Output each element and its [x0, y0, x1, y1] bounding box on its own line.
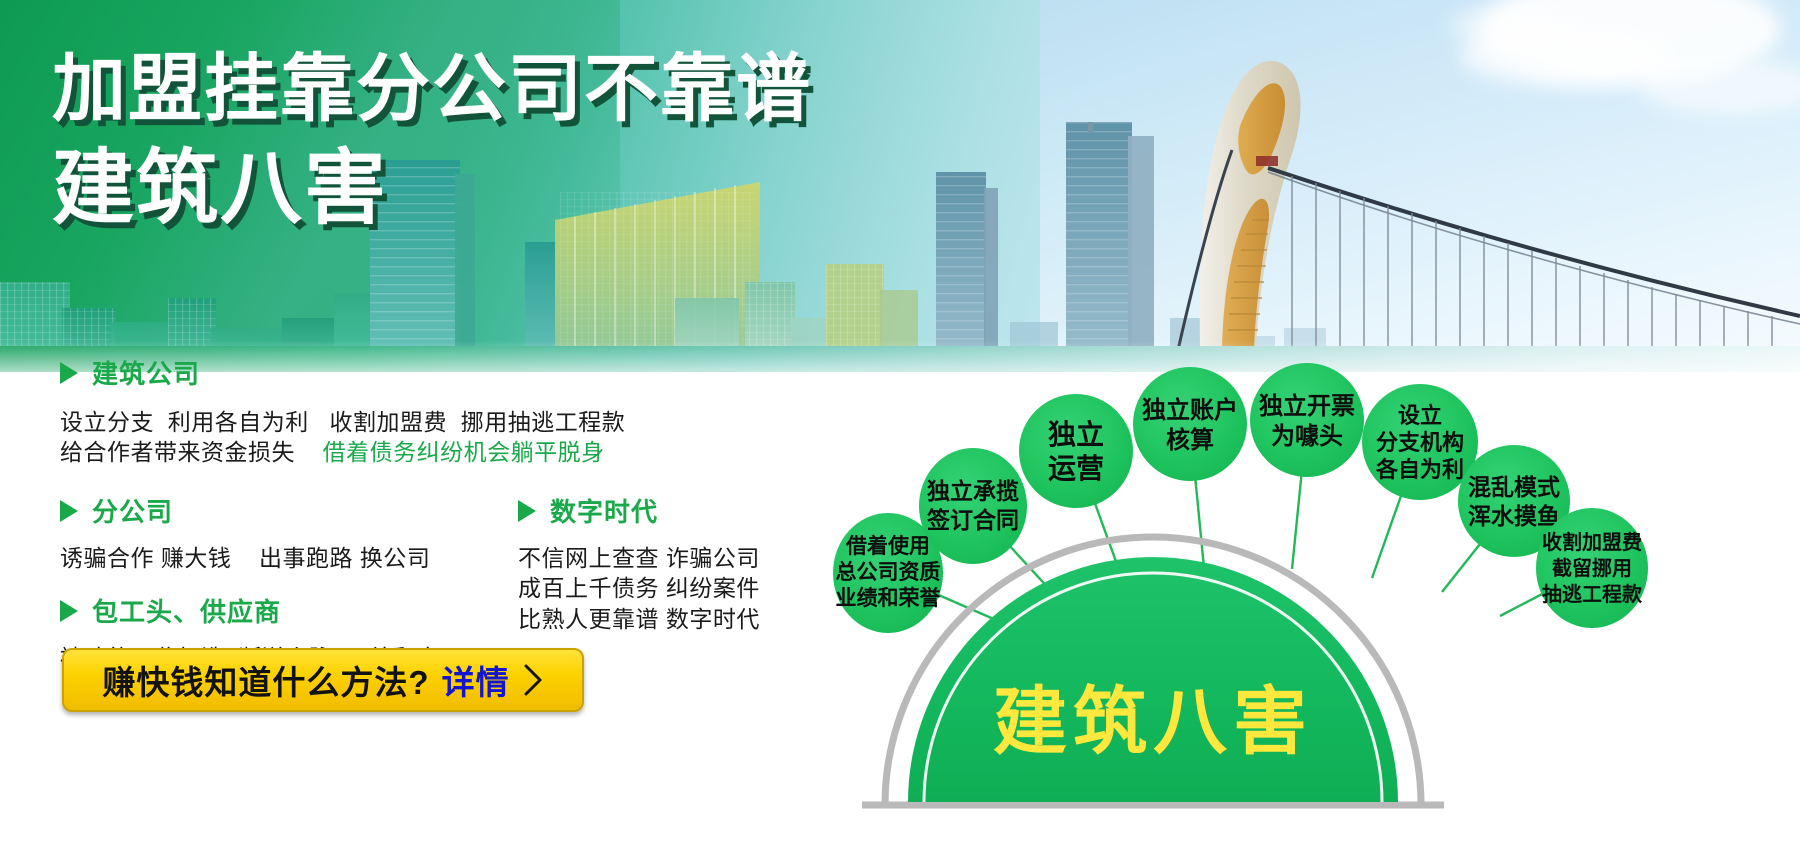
bubble-line: 抽逃工程款 — [1542, 582, 1643, 606]
section-header: 分公司 — [60, 492, 430, 529]
bubble-line: 截留挪用 — [1552, 556, 1632, 580]
section-header: 包工头、供应商 — [60, 592, 440, 629]
triangle-bullet-icon — [60, 600, 78, 622]
section-digital-era: 数字时代 不信网上查查 诈骗公司 成百上千债务 纠纷案件 比熟人更靠谱 数字时代 — [518, 492, 760, 634]
section-header: 数字时代 — [518, 492, 760, 529]
bubble-line: 业绩和荣誉 — [836, 586, 942, 610]
bubble-5[interactable]: 独立开票 为噱头 — [1250, 363, 1364, 477]
bridge-illustration — [1140, 30, 1800, 350]
cta-label: 赚快钱知道什么方法? — [102, 656, 429, 704]
section-body: 设立分支 利用各自为利 收割加盟费 挪用抽逃工程款 给合作者带来资金损失 借着债… — [60, 407, 625, 468]
hero-banner: 加盟挂靠分公司不靠谱 建筑八害 — [0, 0, 1800, 372]
chevron-right-icon — [522, 663, 544, 697]
bubble-line: 签订合同 — [926, 507, 1019, 533]
body-text: 不信网上查查 诈骗公司 — [518, 545, 760, 571]
body-line: 设立分支 利用各自为利 收割加盟费 挪用抽逃工程款 — [60, 407, 625, 437]
bubble-line: 独立承揽 — [927, 478, 1019, 504]
section-title: 分公司 — [92, 492, 173, 529]
triangle-bullet-icon — [60, 500, 78, 522]
cta-detail-link[interactable]: 详情 — [442, 656, 510, 704]
body-line: 诱骗合作 赚大钱 出事跑路 换公司 — [60, 543, 430, 573]
cta-button[interactable]: 赚快钱知道什么方法? 详情 — [62, 648, 584, 712]
infographic-page: 加盟挂靠分公司不靠谱 建筑八害 建筑公司 设立分支 利用各自为利 收割加盟费 挪… — [0, 0, 1800, 844]
bubble-line: 混乱模式 — [1468, 474, 1560, 500]
body-text: 成百上千债务 纠纷案件 — [518, 575, 760, 601]
hero-title-line1: 加盟挂靠分公司不靠谱 — [52, 52, 1052, 126]
hero-title-line2: 建筑八害 — [52, 148, 1052, 230]
bubble-line: 核算 — [1166, 426, 1214, 454]
section-title: 数字时代 — [550, 492, 658, 529]
bubble-line: 为噱头 — [1271, 423, 1343, 450]
bubble-4[interactable]: 独立账户 核算 — [1133, 367, 1247, 481]
bazhai-diagram: 建筑八害 借着使用 总公司资质 业绩和荣誉 独立承揽 签订合同 独立 运营 — [800, 330, 1800, 844]
bubble-6[interactable]: 设立 分支机构 各自为利 — [1362, 384, 1478, 500]
page-title: 加盟挂靠分公司不靠谱 建筑八害 — [52, 52, 1052, 230]
bubble-line: 设立 — [1398, 403, 1442, 428]
bubble-line: 独立 — [1048, 418, 1104, 450]
body-line: 比熟人更靠谱 数字时代 — [518, 604, 760, 634]
dome-center-label: 建筑八害 — [993, 680, 1313, 763]
bubble-8[interactable]: 收割加盟费 截留挪用 抽逃工程款 — [1536, 508, 1648, 628]
bubble-line: 总公司资质 — [836, 560, 941, 584]
bubble-line: 浑水摸鱼 — [1468, 503, 1560, 529]
body-line: 成百上千债务 纠纷案件 — [518, 573, 760, 603]
bubble-line: 独立开票 — [1259, 392, 1355, 420]
body-text: 比熟人更靠谱 数字时代 — [518, 606, 760, 632]
section-body: 诱骗合作 赚大钱 出事跑路 换公司 — [60, 543, 430, 573]
section-construction-company: 建筑公司 设立分支 利用各自为利 收割加盟费 挪用抽逃工程款 给合作者带来资金损… — [60, 354, 625, 468]
body-text: 诱骗合作 赚大钱 出事跑路 换公司 — [60, 545, 430, 571]
bubble-line: 收割加盟费 — [1542, 530, 1642, 554]
triangle-bullet-icon — [60, 362, 78, 384]
bubble-line: 借着使用 — [845, 534, 930, 558]
body-text: 设立分支 利用各自为利 收割加盟费 挪用抽逃工程款 — [60, 409, 625, 435]
left-content-column: 建筑公司 设立分支 利用各自为利 收割加盟费 挪用抽逃工程款 给合作者带来资金损… — [0, 372, 820, 844]
bubble-3[interactable]: 独立 运营 — [1019, 394, 1133, 508]
body-text: 给合作者带来资金损失 — [60, 439, 323, 465]
section-title: 包工头、供应商 — [92, 592, 281, 629]
body-line: 不信网上查查 诈骗公司 — [518, 543, 760, 573]
bubble-2[interactable]: 独立承揽 签订合同 — [919, 448, 1027, 564]
body-line: 给合作者带来资金损失 借着债务纠纷机会躺平脱身 — [60, 437, 625, 467]
section-title: 建筑公司 — [92, 354, 200, 391]
body-text-highlight: 借着债务纠纷机会躺平脱身 — [323, 439, 605, 465]
bubble-line: 分支机构 — [1376, 430, 1464, 455]
section-branch-company: 分公司 诱骗合作 赚大钱 出事跑路 换公司 — [60, 492, 430, 573]
bubble-line: 各自为利 — [1375, 457, 1464, 482]
triangle-bullet-icon — [518, 500, 536, 522]
bubble-line: 运营 — [1048, 453, 1104, 484]
section-header: 建筑公司 — [60, 354, 625, 391]
section-body: 不信网上查查 诈骗公司 成百上千债务 纠纷案件 比熟人更靠谱 数字时代 — [518, 543, 760, 634]
bubble-line: 独立账户 — [1142, 396, 1238, 424]
